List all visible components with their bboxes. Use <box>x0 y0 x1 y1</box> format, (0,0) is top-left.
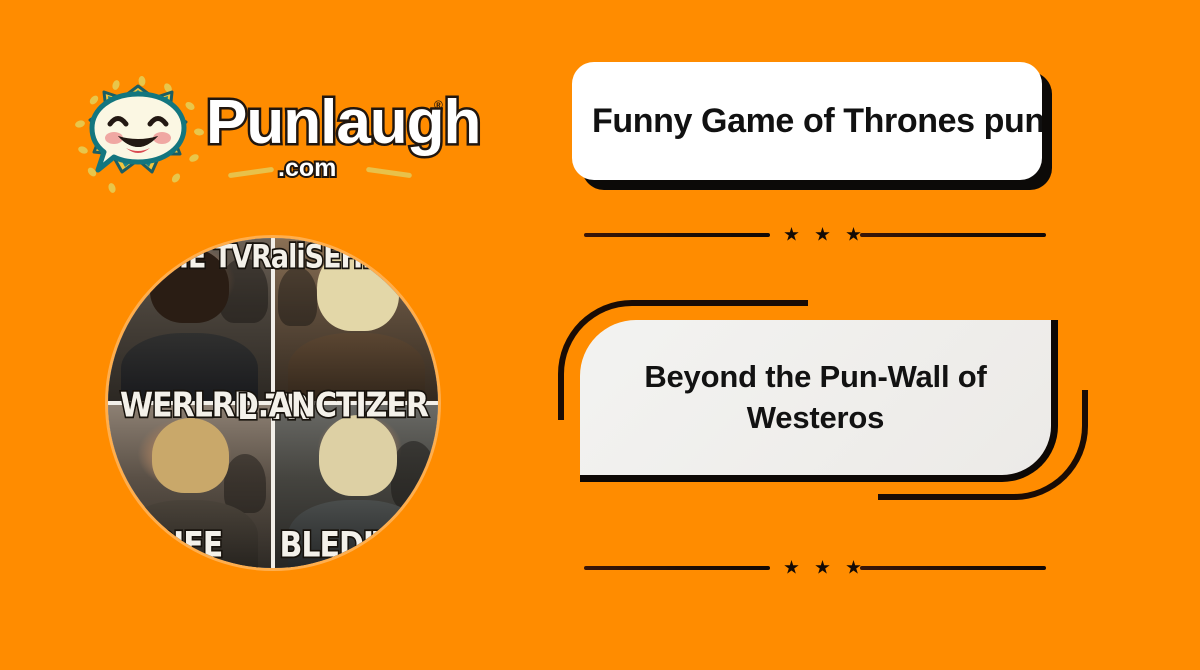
subtitle-card-panel: Beyond the Pun-Wall of Westeros <box>580 320 1058 482</box>
collage-grid <box>108 238 438 568</box>
registered-mark: ® <box>434 98 443 112</box>
divider-bottom <box>572 555 1052 579</box>
wordmark-dash-right <box>366 167 412 178</box>
brand-logo[interactable]: Punlaugh ® .com <box>68 72 488 200</box>
divider-line-left <box>584 566 770 570</box>
collage-tile-3 <box>108 405 271 568</box>
laughing-face-speech-bubble-icon <box>68 72 208 200</box>
star-icon <box>815 560 830 575</box>
star-icon <box>846 560 861 575</box>
title-card-text: Funny Game of Thrones puns <box>572 102 1042 141</box>
divider-line-right <box>860 233 1046 237</box>
poster-canvas: Punlaugh ® .com HE TVRaliSEHE WERLRD. L … <box>0 0 1200 670</box>
collage-tile-2 <box>275 238 438 401</box>
brand-tld: .com <box>278 154 336 183</box>
star-icon <box>815 227 830 242</box>
divider-top <box>572 222 1052 246</box>
subtitle-card[interactable]: Beyond the Pun-Wall of Westeros <box>558 300 1088 500</box>
title-card[interactable]: Funny Game of Thrones puns <box>572 62 1042 180</box>
collage-image: HE TVRaliSEHE WERLRD. L TR ANCTIZER IPIF… <box>108 238 438 568</box>
star-icon <box>784 560 799 575</box>
title-card-face: Funny Game of Thrones puns <box>572 62 1042 180</box>
divider-line-left <box>584 233 770 237</box>
wordmark-dash-left <box>228 167 274 178</box>
brand-wordmark: Punlaugh ® .com <box>206 92 486 192</box>
star-icon <box>846 227 861 242</box>
collage-tile-1 <box>108 238 271 401</box>
divider-line-right <box>860 566 1046 570</box>
subtitle-card-text: Beyond the Pun-Wall of Westeros <box>580 357 1051 439</box>
star-icon <box>784 227 799 242</box>
collage-tile-4 <box>275 405 438 568</box>
